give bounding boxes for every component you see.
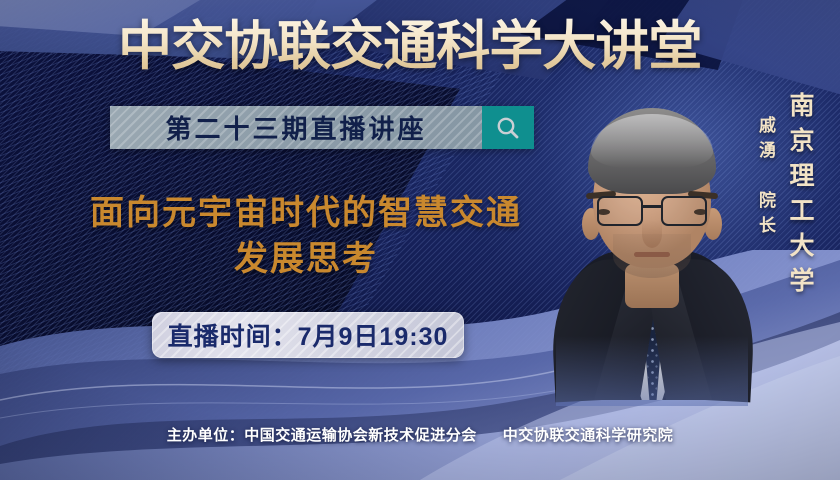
broadcast-time-badge: 直播时间：7月9日19:30: [152, 312, 464, 358]
search-icon: [495, 115, 521, 141]
lecture-topic-line1: 面向元宇宙时代的智慧交通: [90, 194, 522, 232]
speaker-affiliation: 南京理工大学: [782, 92, 818, 302]
lecture-topic-line2: 发展思考: [56, 236, 556, 282]
broadcast-time-label: 直播时间：7月9日19:30: [168, 317, 449, 353]
footer-organizer-2: 中交协联交通科学研究院: [503, 427, 674, 444]
session-label: 第二十三期直播讲座: [165, 109, 426, 146]
footer-organizers: 主办单位：中国交通运输协会新技术促进分会中交协联交通科学研究院: [0, 424, 840, 445]
lecture-topic: 面向元宇宙时代的智慧交通 发展思考: [56, 190, 556, 282]
search-button[interactable]: [482, 106, 534, 149]
live-broadcast-poster: 中交协联交通科学大讲堂 第二十三期直播讲座 面向元宇宙时代的智慧交通 发展思考 …: [0, 0, 840, 480]
footer-organizer-1: 中国交通运输协会新技术促进分会: [244, 427, 477, 444]
session-bar[interactable]: 第二十三期直播讲座: [110, 106, 534, 149]
session-label-container: 第二十三期直播讲座: [110, 106, 482, 149]
speaker-name-title: 戚湧 院长: [753, 116, 778, 241]
page-title: 中交协联交通科学大讲堂: [118, 18, 730, 76]
footer-organizer-label: 主办单位：: [167, 427, 245, 444]
